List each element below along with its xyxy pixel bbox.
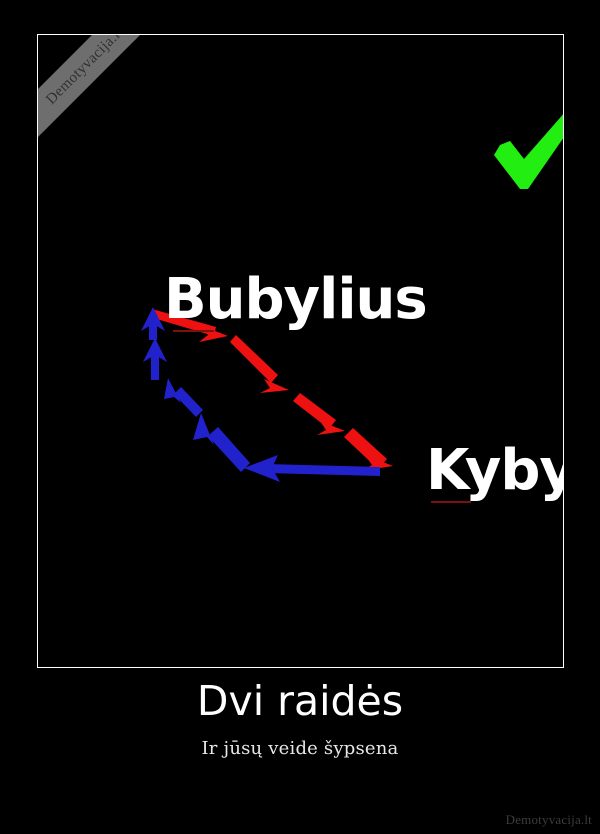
image-frame: Bubylius Kybys Demotyvacija.lt (37, 34, 564, 668)
footer-watermark: Demotyvacija.lt (506, 812, 592, 828)
red-arrow-3 (293, 393, 345, 435)
caption-title: Dvi raidės (0, 680, 600, 723)
underline-bubylius (173, 330, 214, 332)
blue-arrow-5 (141, 307, 165, 340)
check-icon (490, 97, 563, 193)
demotivational-poster: Bubylius Kybys Demotyvacija.lt Dvi raidė… (0, 0, 600, 834)
blue-arrow-1 (244, 455, 380, 482)
blue-arrow-chain (141, 307, 380, 482)
label-kybys: Kybys (426, 443, 563, 499)
red-arrow-chain (150, 309, 393, 471)
blue-arrow-4 (143, 338, 167, 380)
caption-subtitle: Ir jūsų veide šypsena (0, 738, 600, 759)
blue-arrow-2 (193, 413, 250, 472)
label-bubylius: Bubylius (164, 272, 427, 328)
red-arrow-2 (230, 335, 289, 393)
corner-watermark-ribbon: Demotyvacija.lt (38, 35, 178, 159)
arrow-diagram (38, 35, 563, 667)
blue-arrow-3 (164, 378, 203, 417)
corner-watermark-text: Demotyvacija.lt (43, 35, 127, 108)
underline-kybys (431, 501, 471, 503)
image-canvas: Bubylius Kybys Demotyvacija.lt (38, 35, 563, 667)
caption-block: Dvi raidės Ir jūsų veide šypsena (0, 680, 600, 759)
red-arrow-4 (344, 428, 393, 471)
